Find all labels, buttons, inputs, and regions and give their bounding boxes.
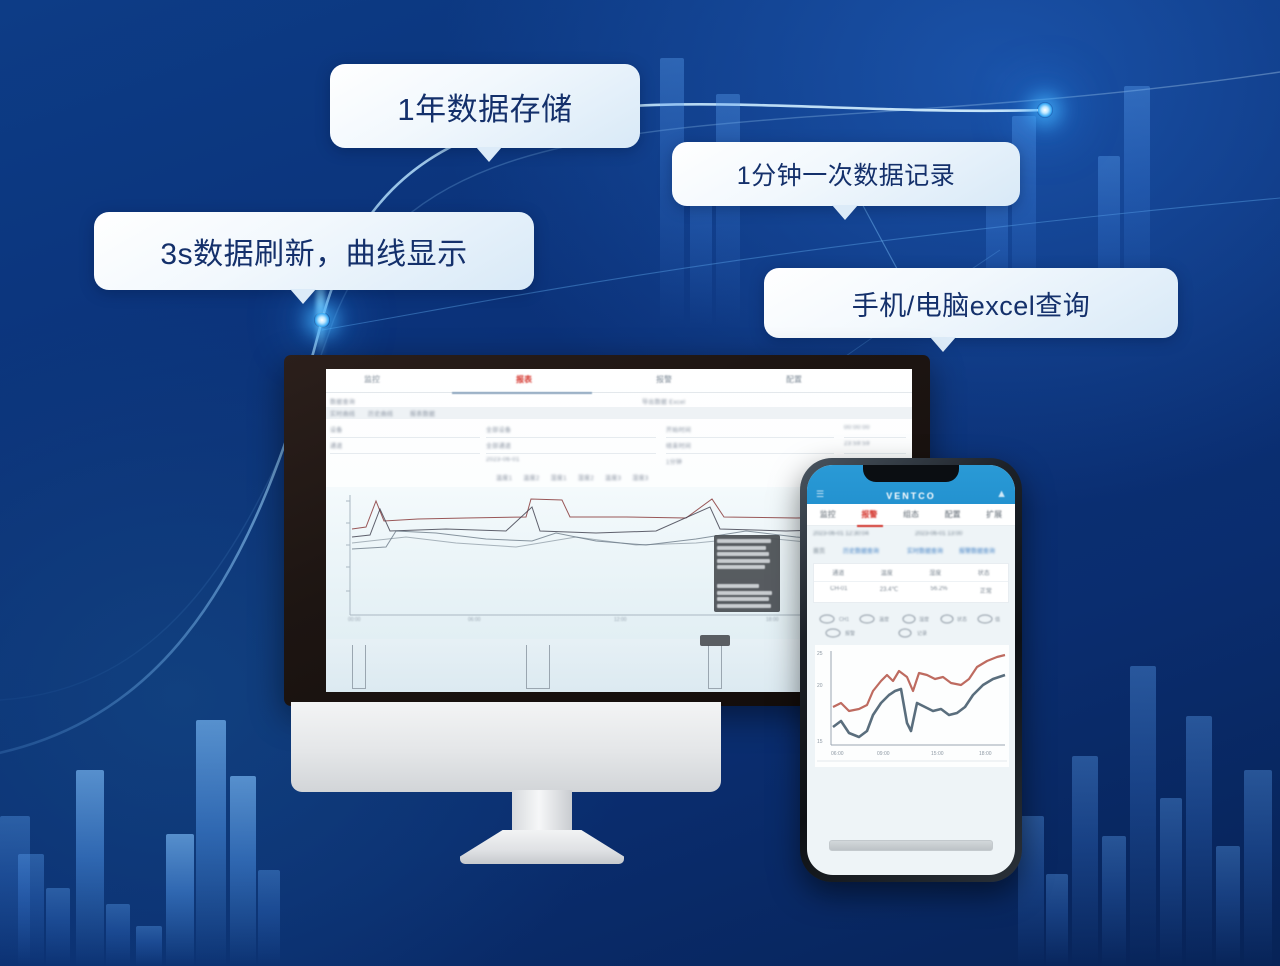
callout-excel-query: 手机/电脑excel查询: [764, 268, 1178, 338]
phone-cell-hum: 56.2%: [931, 586, 948, 595]
phone-col-temp: 温度: [881, 568, 893, 577]
tab-monitor[interactable]: 监控: [364, 374, 380, 385]
phone-app-logo: VENTCO: [886, 491, 936, 501]
phone-tab-state[interactable]: 组态: [903, 509, 919, 520]
tab-alarm[interactable]: 报警: [656, 374, 672, 385]
legend-item-5[interactable]: 湿度3: [632, 473, 648, 482]
svg-text:18:00: 18:00: [979, 751, 992, 757]
phone-tab-alarm[interactable]: 报警: [861, 509, 877, 520]
phone-chart-svg: 25 20 15 06:0009:00 15:0018:00: [815, 645, 1009, 767]
filter-end-label: 结束时间: [666, 441, 691, 450]
svg-text:09:00: 09:00: [877, 751, 890, 757]
legend-item-3[interactable]: 湿度2: [578, 473, 594, 482]
callout-data-storage: 1年数据存储: [330, 64, 640, 148]
svg-text:20: 20: [817, 683, 823, 689]
callout-excel-query-label: 手机/电脑excel查询: [852, 284, 1091, 323]
svg-text:报警: 报警: [845, 630, 855, 637]
phone-tab-extend[interactable]: 扩展: [986, 509, 1002, 520]
signal-icon: ▲: [996, 488, 1007, 500]
toolbar-report-data[interactable]: 报表数据: [410, 409, 435, 418]
legend-item-4[interactable]: 温度3: [605, 473, 621, 482]
svg-text:15:00: 15:00: [931, 751, 944, 757]
phone-chip-history[interactable]: 历史数据查询: [843, 546, 879, 555]
phone-cell-channel: CH-01: [830, 586, 847, 595]
desktop-toolbar[interactable]: 实时曲线 历史曲线 报表数据: [326, 407, 912, 419]
x-label-1: 06:00: [468, 617, 481, 623]
breadcrumb: 数据查询: [330, 397, 355, 406]
glow-node-left: [314, 312, 330, 328]
smartphone: ☰ VENTCO ▲ 监控 报警 组态 配置 扩展 2023-06-01 12:…: [800, 458, 1022, 882]
phone-cell-temp: 23.4℃: [880, 586, 898, 595]
filter-interval-value[interactable]: 1分钟: [666, 457, 682, 466]
glow-node-right: [1037, 102, 1053, 118]
filter-start-value[interactable]: 00:00:00: [844, 425, 870, 431]
phone-chip-home[interactable]: 首页: [813, 546, 825, 555]
x-label-0: 00:00: [348, 617, 361, 623]
legend-item-2[interactable]: 湿度1: [551, 473, 567, 482]
phone-screen[interactable]: ☰ VENTCO ▲ 监控 报警 组态 配置 扩展 2023-06-01 12:…: [807, 465, 1015, 875]
phone-data-table[interactable]: 通道 温度 湿度 状态 CH-01 23.4℃ 56.2% 正常: [813, 563, 1009, 603]
svg-text:记录: 记录: [917, 630, 927, 637]
tab-report[interactable]: 报表: [516, 374, 532, 385]
infographic-canvas: 1年数据存储 1分钟一次数据记录 3s数据刷新，曲线显示 手机/电脑excel查…: [0, 0, 1280, 966]
legend-item-1[interactable]: 温度2: [523, 473, 539, 482]
toolbar-history-curve[interactable]: 历史曲线: [368, 409, 393, 418]
svg-text:状态: 状态: [957, 616, 967, 623]
monitor-chin: [291, 702, 721, 792]
callout-refresh-curve: 3s数据刷新，曲线显示: [94, 212, 534, 290]
phone-tab-indicator: [857, 525, 883, 527]
phone-chip-realtime[interactable]: 实时数据查询: [907, 546, 943, 555]
phone-cell-state: 正常: [980, 586, 992, 595]
phone-notch: [863, 465, 959, 482]
tab-active-underline: [452, 392, 592, 394]
filter-device-value[interactable]: 全部设备: [486, 425, 511, 434]
phone-col-hum: 湿度: [929, 568, 941, 577]
phone-scrollbar[interactable]: [829, 840, 993, 851]
phone-icon-row-svg: CH1温度 湿度状态 值 报警记录: [813, 611, 1009, 641]
range-handle[interactable]: [700, 635, 730, 646]
chart-tooltip: [714, 535, 780, 612]
phone-timestamp: 2023-06-01 12:30:04: [813, 531, 869, 537]
filter-channel-label: 通道: [330, 441, 343, 450]
export-excel-button[interactable]: 导出数据 Excel: [642, 397, 685, 406]
svg-text:值: 值: [995, 616, 1000, 623]
svg-text:湿度: 湿度: [919, 616, 929, 623]
phone-tab-config[interactable]: 配置: [945, 509, 961, 520]
phone-col-channel: 通道: [832, 568, 844, 577]
phone-chip-alarm[interactable]: 报警数据查询: [959, 546, 995, 555]
filter-start-label: 开始时间: [666, 425, 691, 434]
monitor-base: [460, 830, 624, 864]
phone-date-filter[interactable]: 2023-06-01 13:00: [915, 531, 962, 537]
bubble-tail: [290, 289, 316, 304]
callout-data-storage-label: 1年数据存储: [397, 84, 572, 129]
phone-icon-row[interactable]: CH1温度 湿度状态 值 报警记录: [813, 611, 1009, 641]
phone-table-row[interactable]: CH-01 23.4℃ 56.2% 正常: [814, 582, 1008, 599]
phone-col-state: 状态: [978, 568, 990, 577]
bubble-tail: [930, 337, 956, 352]
menu-icon[interactable]: ☰: [816, 489, 824, 500]
filter-time-value[interactable]: 2023-06-01: [486, 457, 520, 463]
svg-text:15: 15: [817, 739, 823, 745]
bubble-tail: [476, 147, 502, 162]
phone-tabbar[interactable]: 监控 报警 组态 配置 扩展: [807, 504, 1015, 526]
svg-text:温度: 温度: [879, 616, 889, 623]
callout-record-interval: 1分钟一次数据记录: [672, 142, 1020, 206]
filter-channel-value[interactable]: 全部通道: [486, 441, 511, 450]
svg-text:25: 25: [817, 651, 823, 657]
callout-refresh-curve-label: 3s数据刷新，曲线显示: [160, 229, 467, 273]
tab-config[interactable]: 配置: [786, 374, 802, 385]
phone-tab-monitor[interactable]: 监控: [820, 509, 836, 520]
phone-trend-chart[interactable]: 25 20 15 06:0009:00 15:0018:00: [815, 645, 1009, 767]
chart-legend[interactable]: 温度1 温度2 湿度1 湿度2 温度3 湿度3: [496, 473, 649, 482]
filter-end-value[interactable]: 23:59:59: [844, 441, 870, 447]
svg-text:06:00: 06:00: [831, 751, 844, 757]
callout-record-interval-label: 1分钟一次数据记录: [737, 156, 955, 192]
toolbar-realtime-curve[interactable]: 实时曲线: [330, 409, 355, 418]
svg-text:CH1: CH1: [839, 617, 849, 623]
x-label-2: 12:00: [614, 617, 627, 623]
filter-device-label: 设备: [330, 425, 343, 434]
desktop-tabbar[interactable]: 监控 报表 报警 配置: [326, 369, 912, 393]
x-label-3: 18:00: [766, 617, 779, 623]
legend-item-0[interactable]: 温度1: [496, 473, 512, 482]
bubble-tail: [832, 205, 858, 220]
